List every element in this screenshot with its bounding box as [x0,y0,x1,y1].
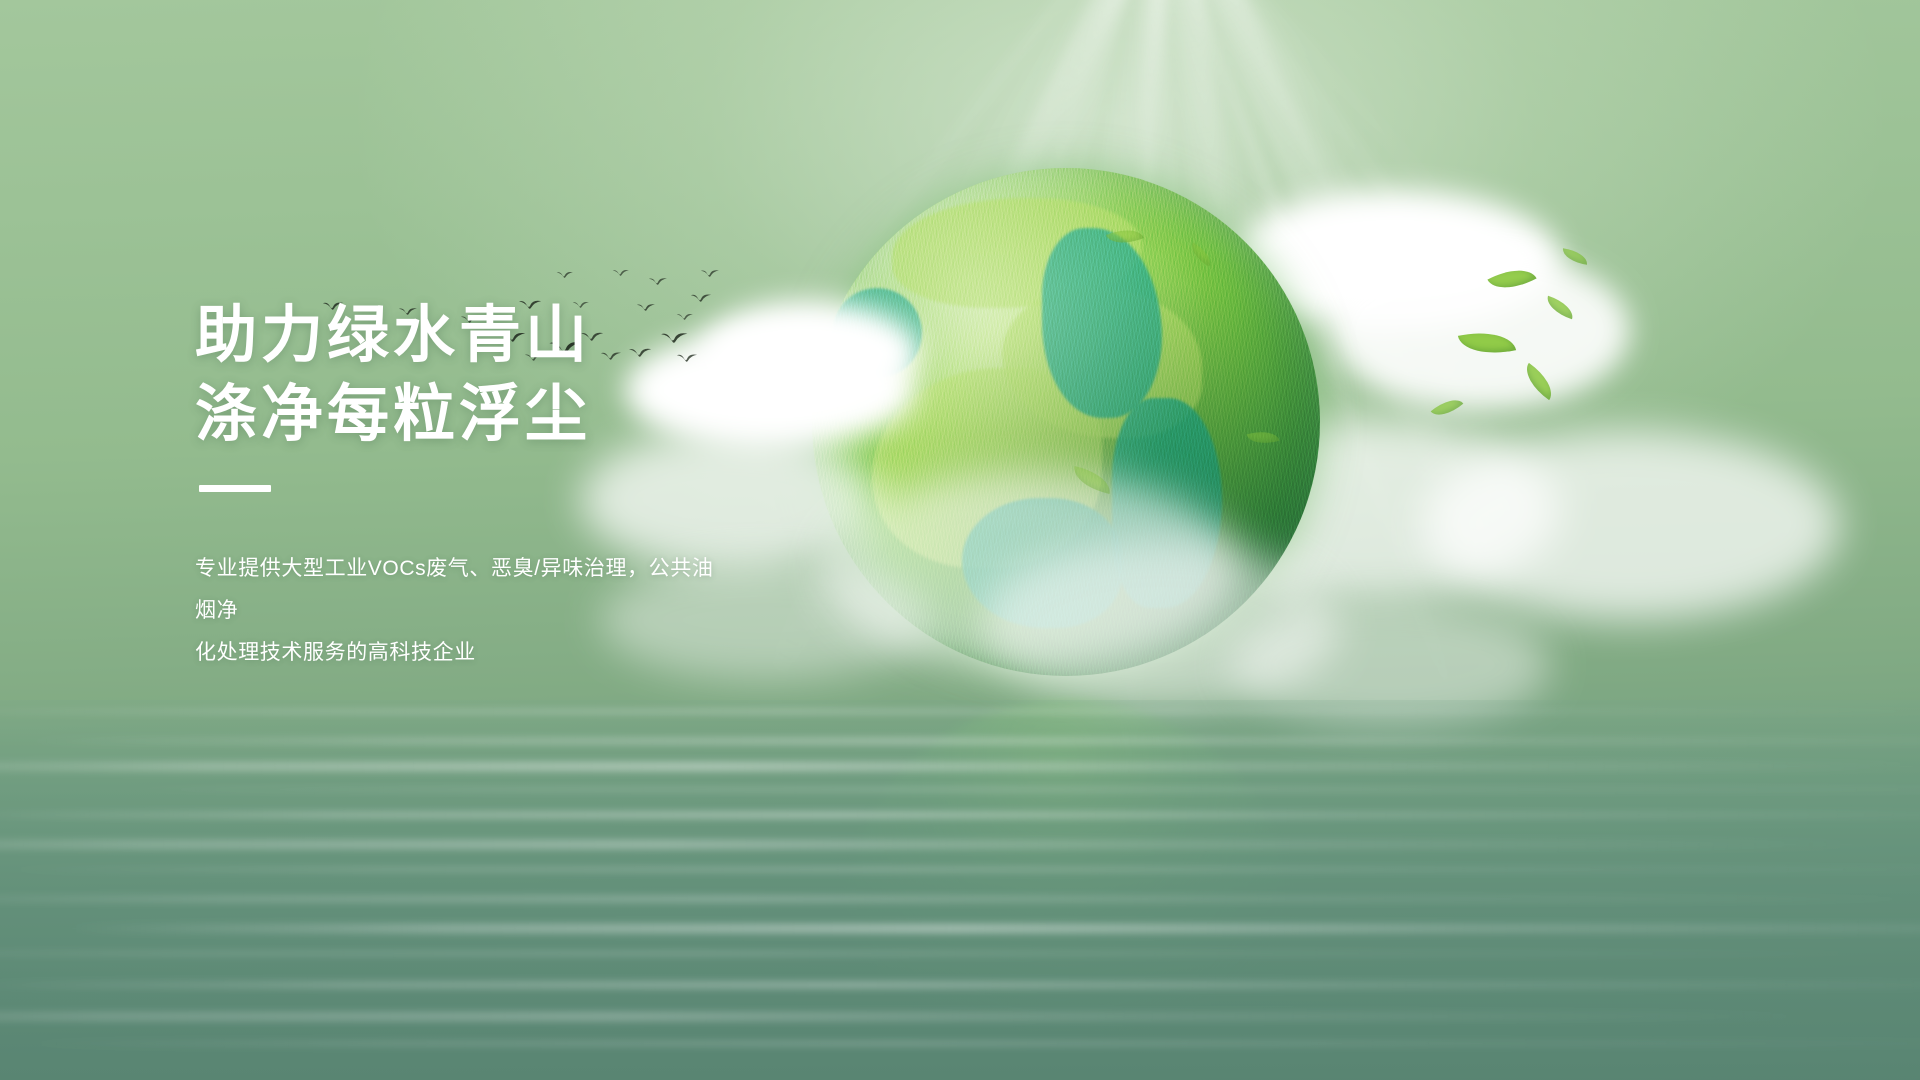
headline-line-1: 助力绿水青山 [195,296,915,375]
water-ripple [0,1012,1836,1021]
hero-banner: 助力绿水青山 涤净每粒浮尘 专业提供大型工业VOCs废气、恶臭/异味治理，公共油… [0,0,1920,1080]
banner-subtitle: 专业提供大型工业VOCs废气、恶臭/异味治理，公共油烟净 化处理技术服务的高科技… [195,548,735,674]
banner-copy: 助力绿水青山 涤净每粒浮尘 专业提供大型工业VOCs废气、恶臭/异味治理，公共油… [195,296,915,674]
water-ripple [0,762,1920,771]
water-ripple [0,710,1920,713]
leaf-icon [1561,248,1589,264]
bird-icon [648,276,668,287]
bird-icon [556,270,574,280]
water-ripple [0,812,1920,818]
cloud [1330,250,1630,410]
water-ripple [0,982,1920,988]
subtitle-line-1: 专业提供大型工业VOCs废气、恶臭/异味治理，公共油烟净 [195,548,735,632]
page-title: 助力绿水青山 涤净每粒浮尘 [195,296,915,455]
bird-icon [612,268,630,278]
headline-line-2: 涤净每粒浮尘 [195,375,915,454]
cloud [1420,430,1840,620]
water-ripple [0,896,1920,902]
water-ripple [0,952,1916,955]
water-ripple [0,868,1920,871]
subtitle-line-2: 化处理技术服务的高科技企业 [195,632,735,674]
bird-icon [700,268,720,279]
water-ripple [14,1042,1920,1045]
water-ripple [0,840,1876,849]
water-ripple [104,788,1920,791]
water-ripple [64,924,1920,933]
water-ripple [24,738,1920,744]
water-surface [0,700,1920,1080]
title-divider [199,485,271,492]
